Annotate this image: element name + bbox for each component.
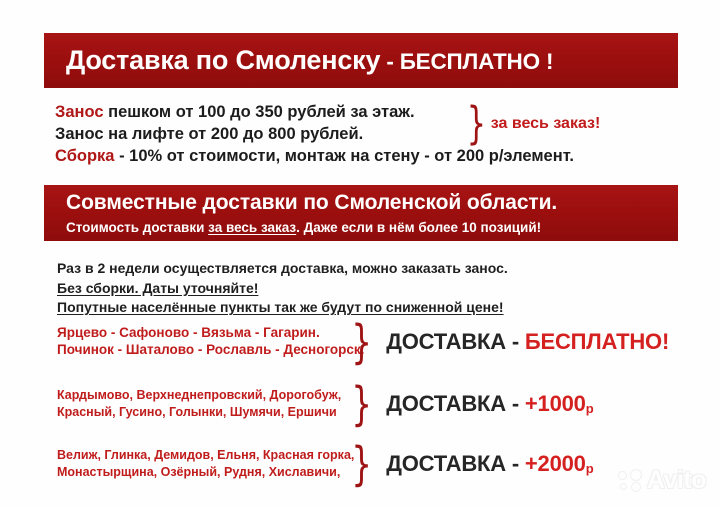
delivery-pricing-infographic: Доставка по Смоленску - БЕСПЛАТНО ! Зано… [0,0,720,507]
delivery-zone-row: Ярцево - Сафоново - Вязьма - Гагарин. По… [57,325,687,358]
zone-towns-line: Кардымово, Верхнеднепровский, Дорогобуж, [57,387,347,404]
schedule-notes: Раз в 2 недели осуществляется доставка, … [57,259,677,318]
zone-towns-list: Велиж, Глинка, Демидов, Ельня, Красная г… [57,447,347,480]
regional-banner: Совместные доставки по Смоленской област… [44,185,678,241]
regional-subtitle-underlined: за весь заказ [208,220,296,235]
main-banner-title-tail: - БЕСПЛАТНО ! [380,49,553,74]
regional-subtitle-suffix: . Даже если в нём более 10 позиций! [296,220,541,235]
pricing-line-walk-up-text: пешком от 100 до 350 рублей за этаж. [104,103,415,121]
zone-price-currency: р [586,401,594,416]
pricing-keyword-sborka: Сборка [55,147,114,165]
avito-dots-icon [618,469,644,493]
zone-price: ДОСТАВКА - +1000р [386,391,593,417]
delivery-zone-row: Кардымово, Верхнеднепровский, Дорогобуж,… [57,387,687,420]
regional-banner-subtitle: Стоимость доставки за весь заказ. Даже е… [66,220,678,235]
note-line-no-assembly: Без сборки. Даты уточняйте! [57,279,677,299]
zone-towns-line: Ярцево - Сафоново - Вязьма - Гагарин. [57,325,347,342]
main-banner-title-lead: Доставка по Смоленску [66,45,380,75]
zone-price-amount: +1000 [525,391,586,416]
zone-towns-line: Велиж, Глинка, Демидов, Ельня, Красная г… [57,447,347,464]
regional-banner-title: Совместные доставки по Смоленской област… [66,191,678,216]
zone-price-label: ДОСТАВКА - [386,329,525,354]
zone-price-label: ДОСТАВКА - [386,451,525,476]
zone-towns-list: Ярцево - Сафоново - Вязьма - Гагарин. По… [57,325,347,358]
zone-towns-list: Кардымово, Верхнеднепровский, Дорогобуж,… [57,387,347,420]
zone-price-amount: БЕСПЛАТНО! [525,329,669,354]
avito-watermark-label: Avito [647,466,706,495]
pricing-line-assembly: Сборка - 10% от стоимости, монтаж на сте… [55,145,675,167]
regional-subtitle-prefix: Стоимость доставки [66,220,208,235]
main-banner-title: Доставка по Смоленску - БЕСПЛАТНО ! [66,45,553,76]
pricing-line-assembly-text: - 10% от стоимости, монтаж на стену - от… [114,147,573,165]
delivery-zone-row: Велиж, Глинка, Демидов, Ельня, Красная г… [57,447,687,480]
zone-towns-line: Починок - Шаталово - Рославль - Десногор… [57,342,347,359]
zone-towns-line: Красный, Гусино, Голынки, Шумячи, Ершичи [57,404,347,421]
zone-price: ДОСТАВКА - +2000р [386,451,593,477]
avito-watermark: Avito [618,466,706,495]
zone-price-amount: +2000 [525,451,586,476]
zone-price-currency: р [586,461,594,476]
pricing-keyword-zanos: Занос [55,103,104,121]
zone-towns-line: Монастырщина, Озёрный, Рудня, Хиславичи, [57,464,347,481]
main-banner: Доставка по Смоленску - БЕСПЛАТНО ! [44,33,678,88]
pricing-brace-group: } за весь заказ! [463,101,600,146]
zone-price: ДОСТАВКА - БЕСПЛАТНО! [386,329,669,355]
pricing-brace-label: за весь заказ! [491,115,601,133]
zone-price-label: ДОСТАВКА - [386,391,525,416]
note-line-frequency: Раз в 2 недели осуществляется доставка, … [57,259,677,279]
